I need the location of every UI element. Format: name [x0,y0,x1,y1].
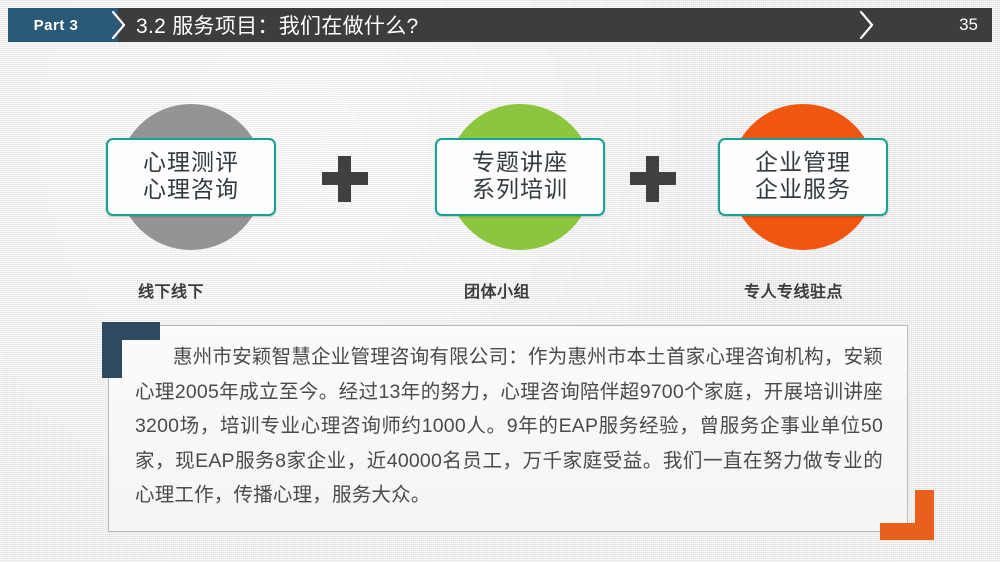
service-circle-2-caption-box: 专题讲座 系列培训 [435,138,605,216]
service-circle-1-line2: 心理咨询 [143,177,239,204]
chevron-right-icon-left [112,11,126,39]
service-circle-3-line2: 企业服务 [755,177,851,204]
plus-icon-1 [322,156,368,202]
part-badge: Part 3 [8,8,118,42]
service-circle-2-line2: 系列培训 [472,177,568,204]
part-badge-label: Part 3 [34,17,79,34]
plus-icon-2 [630,156,676,202]
service-circle-3-line1: 企业管理 [755,150,851,177]
description-text: 惠州市安颖智慧企业管理咨询有限公司：作为惠州市本土首家心理咨询机构，安颖心理20… [135,340,883,513]
service-label-3: 专人专线驻点 [744,278,843,302]
panel-corner-bottom-right [880,490,934,540]
service-circle-1-line1: 心理测评 [143,150,239,177]
service-circle-3[interactable]: 企业管理 企业服务 [730,104,876,250]
service-circle-1-caption-box: 心理测评 心理咨询 [106,138,276,216]
slide-header: Part 3 3.2 服务项目：我们在做什么? 35 [8,8,992,42]
service-label-1: 线下线下 [138,278,204,302]
description-panel: 惠州市安颖智慧企业管理咨询有限公司：作为惠州市本土首家心理咨询机构，安颖心理20… [108,325,908,532]
service-circle-2-line1: 专题讲座 [472,150,568,177]
service-circle-1[interactable]: 心理测评 心理咨询 [118,104,264,250]
page-title: 3.2 服务项目：我们在做什么? [136,8,419,42]
service-circle-2[interactable]: 专题讲座 系列培训 [447,104,593,250]
service-label-2: 团体小组 [464,278,530,302]
service-circle-3-caption-box: 企业管理 企业服务 [718,138,888,216]
panel-corner-top-left [102,322,160,378]
page-number: 35 [959,8,978,42]
chevron-right-icon-right [860,11,874,39]
